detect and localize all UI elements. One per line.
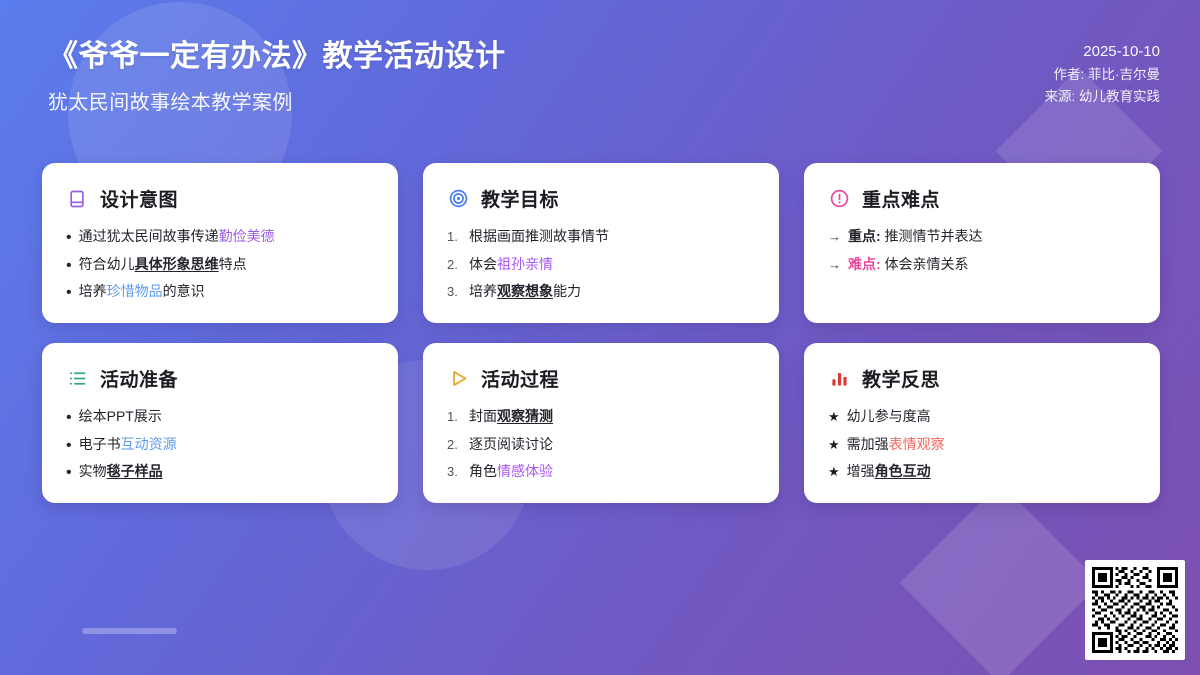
text-span: 勤俭美德: [219, 228, 275, 244]
text-span: 难点:: [848, 256, 881, 272]
card-header: 设计意图: [66, 185, 374, 212]
list-marker: •: [66, 285, 72, 301]
text-span: 观察猜测: [497, 408, 553, 424]
list-item: ★增强角色互动: [828, 463, 1136, 481]
list-marker: ★: [828, 409, 840, 425]
list-item: 2.逐页阅读讨论: [447, 436, 755, 454]
text-span: 体会亲情关系: [881, 256, 969, 272]
text-span: 特点: [219, 256, 247, 272]
list-item-text: 重点: 推测情节并表达: [848, 228, 1136, 246]
list-item-text: 符合幼儿具体形象思维特点: [79, 256, 374, 274]
text-span: 培养: [79, 283, 107, 299]
card-activity-process: 活动过程1.封面观察猜测2.逐页阅读讨论3.角色情感体验: [423, 343, 779, 503]
list-item: →重点: 推测情节并表达: [828, 228, 1136, 246]
list-item-text: 电子书互动资源: [79, 436, 374, 454]
text-span: 观察想象: [497, 283, 553, 299]
card-title: 教学目标: [481, 185, 559, 212]
card-item-list: 1.封面观察猜测2.逐页阅读讨论3.角色情感体验: [447, 408, 755, 481]
text-span: 能力: [553, 283, 581, 299]
text-span: 培养: [469, 283, 497, 299]
list-item: •符合幼儿具体形象思维特点: [66, 256, 374, 274]
list-marker: →: [828, 257, 841, 273]
meta-source: 来源: 幼儿教育实践: [1044, 86, 1160, 108]
text-span: 具体形象思维: [135, 256, 219, 272]
text-span: 通过犹太民间故事传递: [79, 228, 219, 244]
card-teaching-goals: 教学目标1.根据画面推测故事情节2.体会祖孙亲情3.培养观察想象能力: [423, 163, 779, 323]
list-item: •实物毯子样品: [66, 463, 374, 481]
list-marker: 3.: [447, 284, 462, 300]
text-span: 的意识: [163, 283, 205, 299]
card-item-list: •通过犹太民间故事传递勤俭美德•符合幼儿具体形象思维特点•培养珍惜物品的意识: [66, 228, 374, 301]
qr-code-image: [1092, 567, 1178, 653]
card-item-list: ★幼儿参与度高★需加强表情观察★增强角色互动: [828, 408, 1136, 481]
qr-code[interactable]: [1085, 560, 1185, 660]
list-item-text: 通过犹太民间故事传递勤俭美德: [79, 228, 374, 246]
card-teaching-reflection: 教学反思★幼儿参与度高★需加强表情观察★增强角色互动: [804, 343, 1160, 503]
list-item: ★幼儿参与度高: [828, 408, 1136, 426]
card-item-list: •绘本PPT展示•电子书互动资源•实物毯子样品: [66, 408, 374, 481]
list-item-text: 增强角色互动: [847, 463, 1136, 481]
list-marker: 3.: [447, 464, 462, 480]
list-item-text: 封面观察猜测: [469, 408, 755, 426]
exclamation-circle-icon: [828, 188, 850, 210]
list-marker: ★: [828, 437, 840, 453]
card-header: 教学目标: [447, 185, 755, 212]
card-title: 设计意图: [100, 185, 178, 212]
card-grid: 设计意图•通过犹太民间故事传递勤俭美德•符合幼儿具体形象思维特点•培养珍惜物品的…: [42, 163, 1160, 503]
text-span: 角色: [469, 463, 497, 479]
text-span: 角色互动: [875, 463, 931, 479]
list-item-text: 难点: 体会亲情关系: [848, 256, 1136, 274]
list-marker: •: [66, 465, 72, 481]
text-span: 毯子样品: [107, 463, 163, 479]
list-item: 3.培养观察想象能力: [447, 283, 755, 301]
list-item: 1.根据画面推测故事情节: [447, 228, 755, 246]
card-header: 教学反思: [828, 365, 1136, 392]
list-item: ★需加强表情观察: [828, 436, 1136, 454]
decorative-diamond-bottom-right: [900, 483, 1101, 675]
text-span: 情感体验: [497, 463, 553, 479]
list-item-text: 需加强表情观察: [847, 436, 1136, 454]
list-item: 1.封面观察猜测: [447, 408, 755, 426]
card-title: 活动准备: [100, 365, 178, 392]
meta-date: 2025-10-10: [1044, 40, 1160, 64]
card-header: 活动过程: [447, 365, 755, 392]
list-item-text: 逐页阅读讨论: [469, 436, 755, 454]
card-key-difficulties: 重点难点→重点: 推测情节并表达→难点: 体会亲情关系: [804, 163, 1160, 323]
list-item-text: 角色情感体验: [469, 463, 755, 481]
list-marker: •: [66, 410, 72, 426]
list-marker: ★: [828, 464, 840, 480]
header-meta: 2025-10-10 作者: 菲比·吉尔曼 来源: 幼儿教育实践: [1044, 30, 1160, 107]
title-block: 《爷爷一定有办法》教学活动设计 犹太民间故事绘本教学案例: [48, 30, 506, 115]
card-title: 教学反思: [862, 365, 940, 392]
text-span: 符合幼儿: [79, 256, 135, 272]
text-span: 实物: [79, 463, 107, 479]
text-span: 祖孙亲情: [497, 256, 553, 272]
text-span: 电子书: [79, 436, 121, 452]
list-item-text: 体会祖孙亲情: [469, 256, 755, 274]
list-marker: 1.: [447, 409, 462, 425]
text-span: 绘本PPT展示: [79, 408, 162, 424]
card-header: 重点难点: [828, 185, 1136, 212]
text-span: 需加强: [847, 436, 889, 452]
list-marker: 1.: [447, 229, 462, 245]
list-item: •电子书互动资源: [66, 436, 374, 454]
list-item: •通过犹太民间故事传递勤俭美德: [66, 228, 374, 246]
card-design-intent: 设计意图•通过犹太民间故事传递勤俭美德•符合幼儿具体形象思维特点•培养珍惜物品的…: [42, 163, 398, 323]
list-marker: •: [66, 438, 72, 454]
bar-chart-icon: [828, 368, 850, 390]
list-item: →难点: 体会亲情关系: [828, 256, 1136, 274]
list-item-text: 绘本PPT展示: [79, 408, 374, 426]
book-icon: [66, 188, 88, 210]
list-item-text: 实物毯子样品: [79, 463, 374, 481]
list-icon: [66, 368, 88, 390]
list-item: 2.体会祖孙亲情: [447, 256, 755, 274]
text-span: 根据画面推测故事情节: [469, 228, 609, 244]
meta-author: 作者: 菲比·吉尔曼: [1044, 64, 1160, 86]
list-marker: →: [828, 229, 841, 245]
text-span: 体会: [469, 256, 497, 272]
text-span: 表情观察: [889, 436, 945, 452]
text-span: 幼儿参与度高: [847, 408, 931, 424]
list-item-text: 培养珍惜物品的意识: [79, 283, 374, 301]
list-item: •绘本PPT展示: [66, 408, 374, 426]
text-span: 互动资源: [121, 436, 177, 452]
list-item-text: 根据画面推测故事情节: [469, 228, 755, 246]
decorative-bar-bottom-left: [82, 628, 177, 634]
card-title: 重点难点: [862, 185, 940, 212]
list-item-text: 培养观察想象能力: [469, 283, 755, 301]
slide-root: 《爷爷一定有办法》教学活动设计 犹太民间故事绘本教学案例 2025-10-10 …: [0, 0, 1200, 675]
list-item: •培养珍惜物品的意识: [66, 283, 374, 301]
text-span: 封面: [469, 408, 497, 424]
card-item-list: 1.根据画面推测故事情节2.体会祖孙亲情3.培养观察想象能力: [447, 228, 755, 301]
play-triangle-icon: [447, 368, 469, 390]
target-icon: [447, 188, 469, 210]
page-title: 《爷爷一定有办法》教学活动设计: [48, 38, 506, 76]
card-header: 活动准备: [66, 365, 374, 392]
card-item-list: →重点: 推测情节并表达→难点: 体会亲情关系: [828, 228, 1136, 273]
card-activity-prep: 活动准备•绘本PPT展示•电子书互动资源•实物毯子样品: [42, 343, 398, 503]
list-marker: •: [66, 258, 72, 274]
list-marker: •: [66, 230, 72, 246]
list-marker: 2.: [447, 257, 462, 273]
list-item-text: 幼儿参与度高: [847, 408, 1136, 426]
text-span: 重点:: [848, 228, 881, 244]
text-span: 增强: [847, 463, 875, 479]
text-span: 逐页阅读讨论: [469, 436, 553, 452]
page-subtitle: 犹太民间故事绘本教学案例: [48, 86, 506, 115]
list-item: 3.角色情感体验: [447, 463, 755, 481]
slide-header: 《爷爷一定有办法》教学活动设计 犹太民间故事绘本教学案例 2025-10-10 …: [0, 0, 1200, 150]
list-marker: 2.: [447, 437, 462, 453]
card-title: 活动过程: [481, 365, 559, 392]
text-span: 珍惜物品: [107, 283, 163, 299]
text-span: 推测情节并表达: [881, 228, 983, 244]
